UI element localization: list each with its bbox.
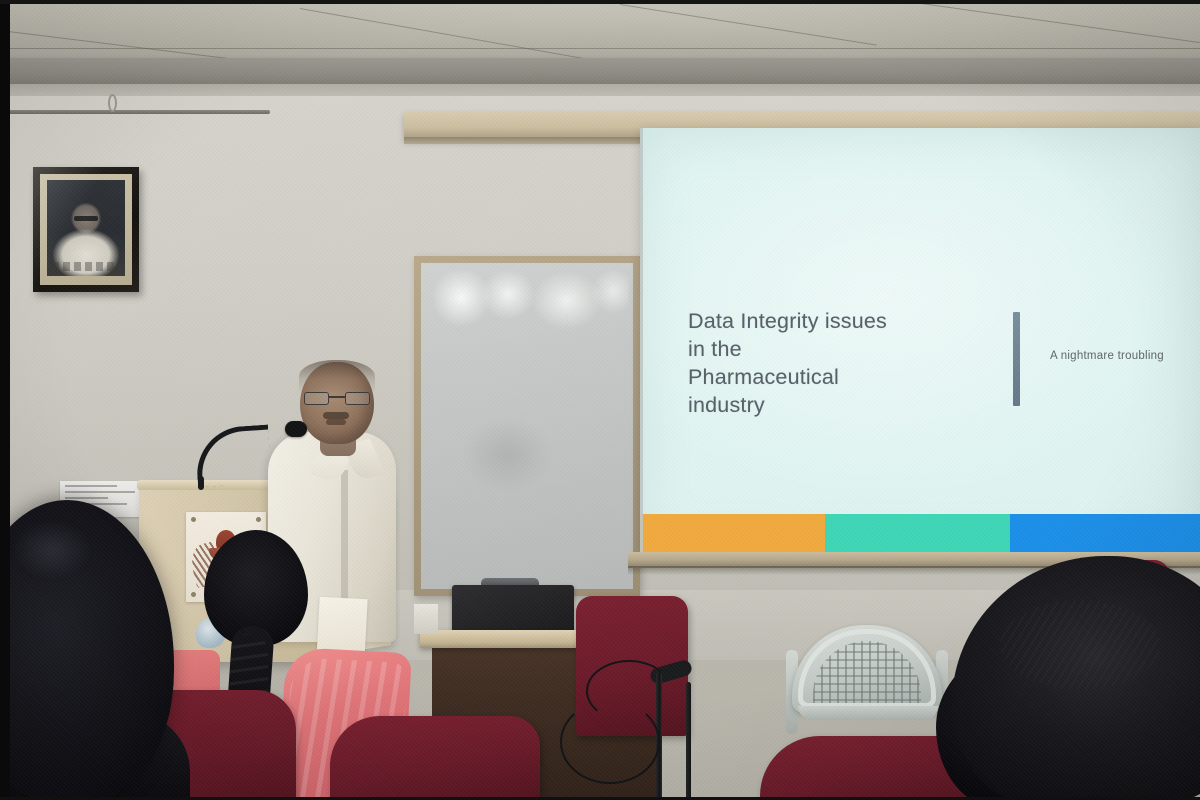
slide-subtitle: A nightmare troubling [1050, 350, 1200, 362]
plastic-chair-seat [798, 706, 938, 720]
band-teal [825, 514, 1010, 552]
ceiling [0, 0, 1200, 66]
portrait-glasses-icon [74, 216, 98, 221]
whiteboard-smudge [463, 419, 552, 491]
slide-title: Data Integrity issues in the Pharmaceuti… [688, 308, 980, 420]
framed-portrait [33, 167, 139, 292]
speaker-glasses-icon [304, 392, 370, 405]
microphone-stand-secondary [686, 682, 691, 800]
microphone-capsule-icon [285, 421, 307, 437]
speaker-mustache [323, 412, 349, 419]
screen-left-edge [640, 128, 643, 552]
projection-screen: Data Integrity issues in the Pharmaceuti… [640, 128, 1200, 552]
audio-cable-loop-2 [586, 660, 672, 722]
table-side-object [414, 604, 438, 634]
curtain-hook-icon [108, 94, 117, 112]
chair-maroon-front-right [330, 716, 540, 800]
speaker-hair [299, 360, 375, 394]
portrait-mat [40, 174, 132, 285]
ceiling-beam [0, 58, 1200, 84]
speaker-mouth [326, 419, 346, 425]
lecture-hall-photo: Data Integrity issues in the Pharmaceuti… [0, 0, 1200, 800]
plastic-chair-rim [798, 629, 936, 708]
whiteboard [414, 256, 640, 596]
whiteboard-glare [434, 270, 629, 332]
laptop-on-table [452, 585, 574, 635]
whiteboard-surface [421, 263, 633, 589]
curtain-rail-left [0, 110, 270, 114]
portrait-photo [47, 180, 125, 276]
slide-vertical-divider [1013, 312, 1020, 406]
audience-hair-sheen-left [12, 520, 92, 580]
audience-hair-strands-right [1000, 600, 1160, 690]
slide-accent-band-row [640, 514, 1200, 552]
band-orange [640, 514, 825, 552]
portrait-caption-text [52, 262, 121, 271]
image-top-border [0, 0, 1200, 4]
image-left-border [0, 0, 10, 800]
band-blue [1010, 514, 1200, 552]
